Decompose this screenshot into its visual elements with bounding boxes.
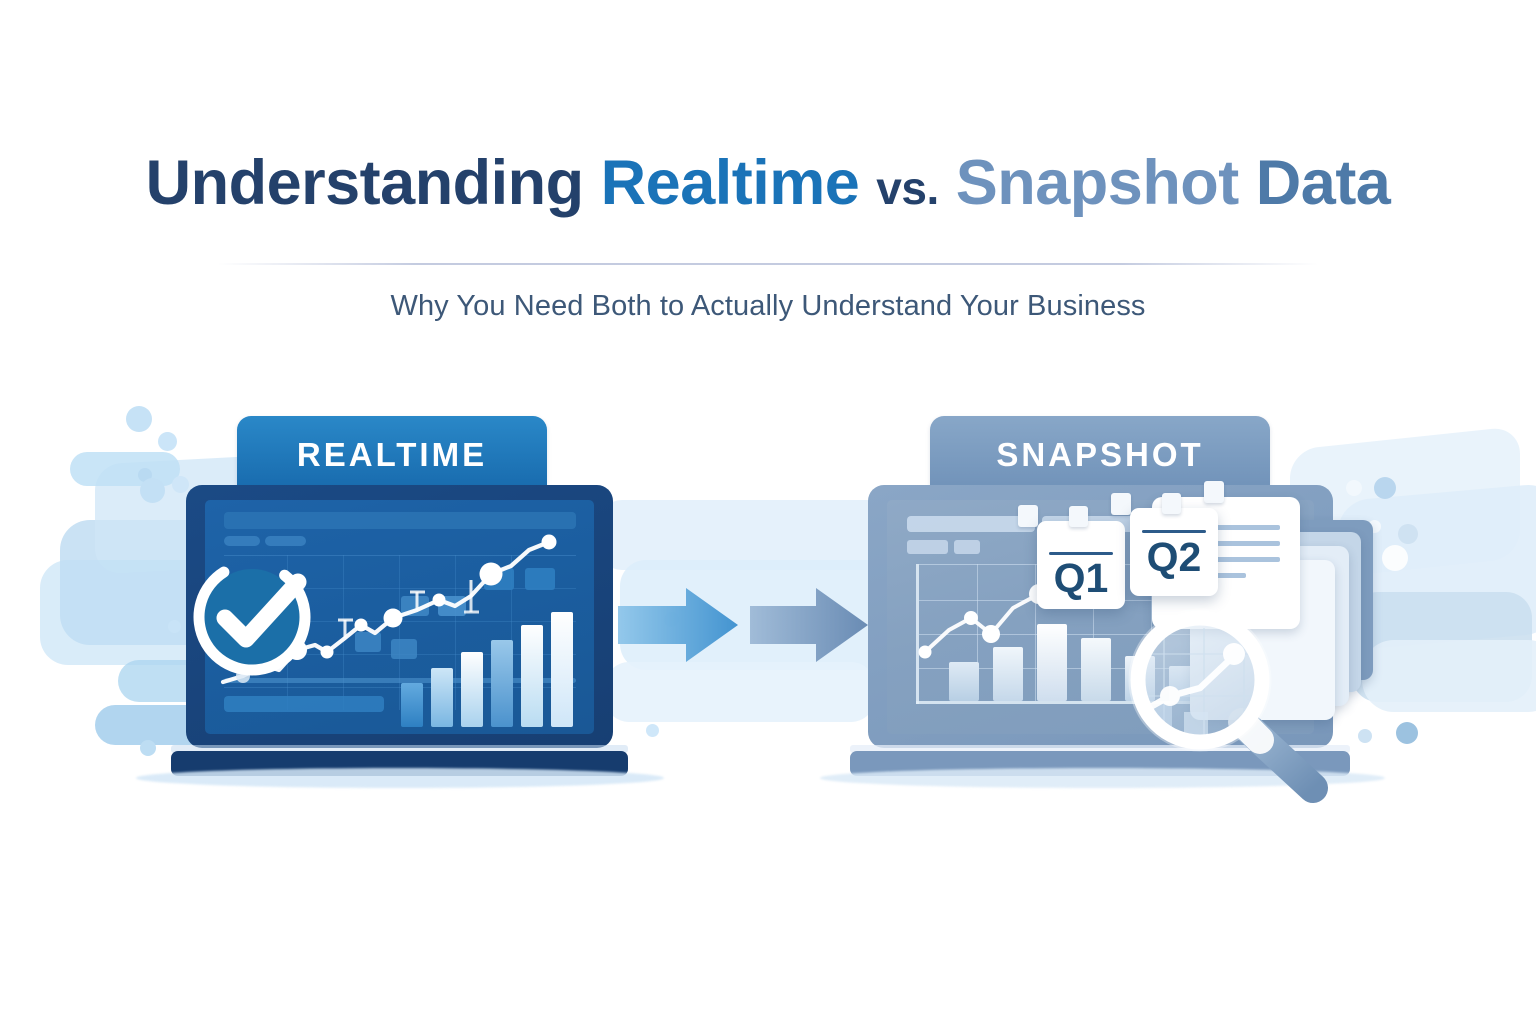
calendar-tab bbox=[1018, 505, 1038, 527]
calendar-tab bbox=[1111, 493, 1131, 515]
laptop-shadow bbox=[136, 768, 664, 788]
snapshot-banner-label: SNAPSHOT bbox=[996, 436, 1203, 474]
arrow-right-icon-1 bbox=[618, 588, 738, 662]
check-circle-icon bbox=[186, 546, 328, 688]
calendar-label-q1: Q1 bbox=[1054, 558, 1109, 599]
document-tab bbox=[1204, 481, 1224, 503]
calendar-rule bbox=[1142, 530, 1206, 533]
calendar-rule bbox=[1049, 552, 1113, 555]
realtime-banner: REALTIME bbox=[237, 416, 547, 494]
calendar-label-q2: Q2 bbox=[1147, 537, 1202, 578]
infographic-canvas: Understanding Realtime vs. Snapshot Data… bbox=[0, 0, 1536, 1024]
calendar-tab bbox=[1162, 493, 1181, 514]
calendar-card-q2: Q2 bbox=[1130, 508, 1218, 596]
check-circle-badge bbox=[186, 546, 328, 688]
snapshot-panel: SNAPSHOT bbox=[830, 0, 1536, 1024]
realtime-panel: REALTIME bbox=[0, 0, 700, 1024]
magnifier-badge bbox=[1108, 592, 1358, 818]
magnifier-icon bbox=[1108, 592, 1358, 818]
calendar-tab bbox=[1069, 506, 1088, 527]
realtime-banner-label: REALTIME bbox=[297, 436, 487, 474]
